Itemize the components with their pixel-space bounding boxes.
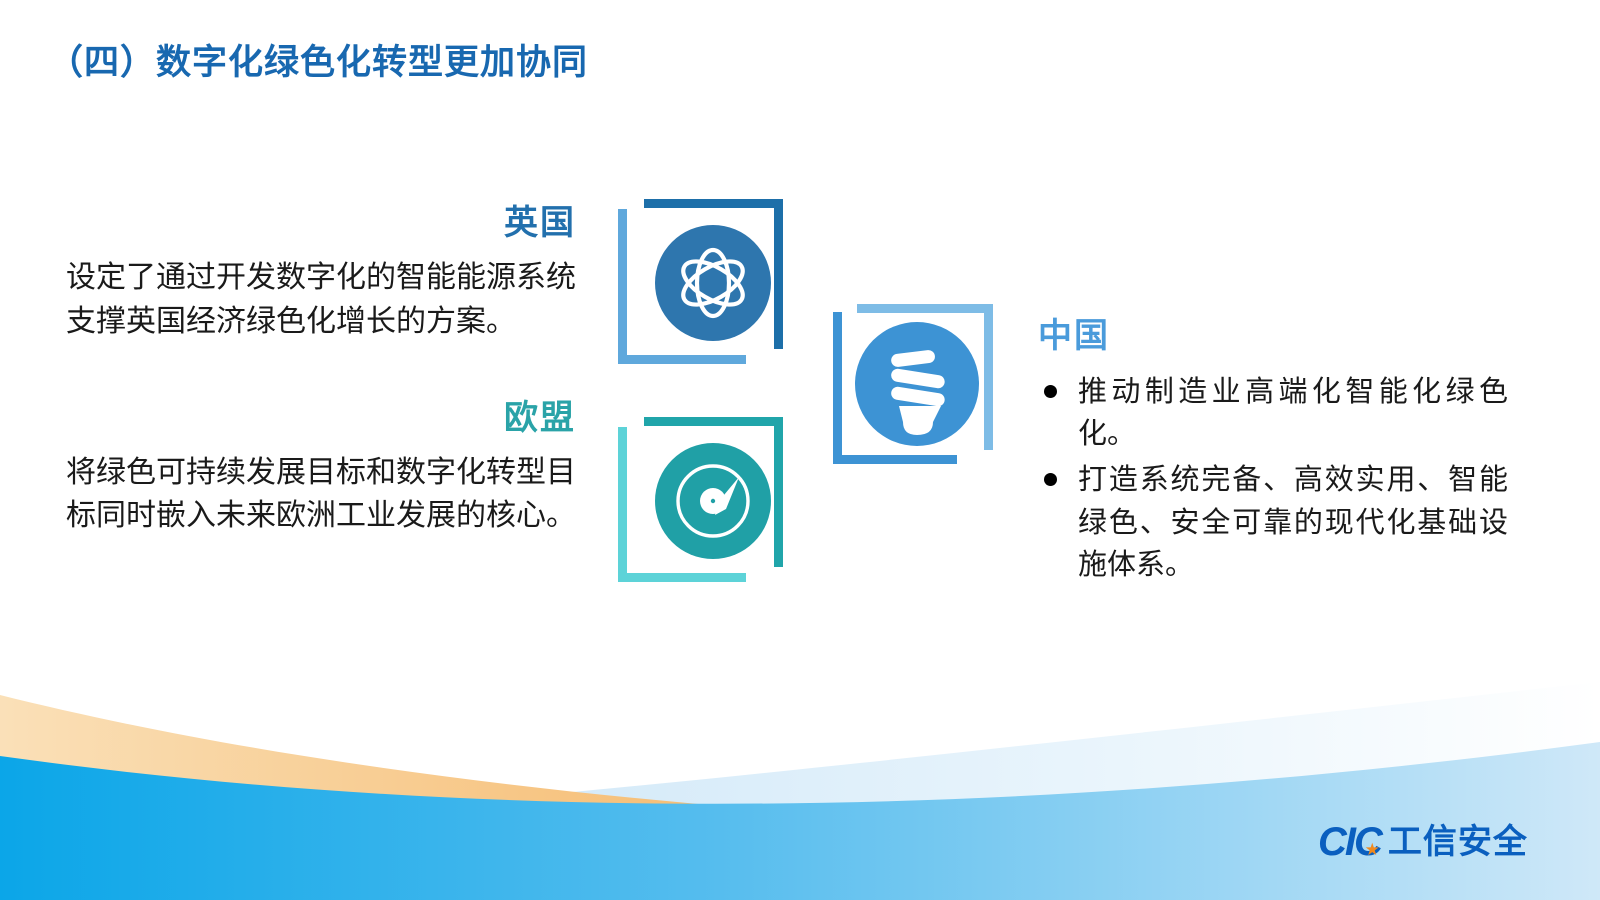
frame-bracket-bottom xyxy=(833,455,957,464)
frame-bracket-top xyxy=(644,199,783,208)
region-heading-eu: 欧盟 xyxy=(66,400,576,437)
brand-logo: CIC ★ 工信安全 xyxy=(1318,818,1528,866)
logo-mark: CIC ★ xyxy=(1318,822,1381,862)
frame-bracket-left xyxy=(618,209,627,364)
list-item: 打造系统完备、高效实用、智能绿色、安全可靠的现代化基础设施体系。 xyxy=(1038,459,1508,585)
region-heading-uk: 英国 xyxy=(66,205,576,242)
list-item: 推动制造业高端化智能化绿色化。 xyxy=(1038,371,1508,455)
star-icon: ★ xyxy=(1365,841,1378,858)
frame-bracket-right xyxy=(774,417,783,567)
wave-orange xyxy=(0,695,1600,900)
list-item-label: 打造系统完备、高效实用、智能绿色、安全可靠的现代化基础设施体系。 xyxy=(1078,464,1508,580)
left-text-column: 英国 设定了通过开发数字化的智能能源系统支撑英国经济绿色化增长的方案。 欧盟 将… xyxy=(66,205,576,538)
bullet-dot-icon xyxy=(1044,385,1057,398)
frame-bracket-right xyxy=(774,199,783,349)
frame-bracket-left xyxy=(833,312,842,464)
region-heading-cn: 中国 xyxy=(1038,318,1508,355)
list-item-label: 推动制造业高端化智能化绿色化。 xyxy=(1078,376,1508,450)
wave-pale xyxy=(0,682,1600,900)
frame-bracket-top xyxy=(644,417,783,426)
vinyl-record-icon xyxy=(655,443,771,559)
region-body-uk: 设定了通过开发数字化的智能能源系统支撑英国经济绿色化增长的方案。 xyxy=(66,256,576,342)
china-bullet-list: 推动制造业高端化智能化绿色化。 打造系统完备、高效实用、智能绿色、安全可靠的现代… xyxy=(1038,371,1508,585)
region-block-eu: 欧盟 将绿色可持续发展目标和数字化转型目标同时嵌入未来欧洲工业发展的核心。 xyxy=(66,400,576,538)
energy-saving-bulb-icon xyxy=(855,322,979,446)
page-title: （四）数字化绿色化转型更加协同 xyxy=(48,34,588,85)
slide-canvas: （四）数字化绿色化转型更加协同 英国 设定了通过开发数字化的智能能源系统支撑英国… xyxy=(0,0,1600,900)
logo-name: 工信安全 xyxy=(1388,825,1528,859)
frame-bracket-left xyxy=(618,427,627,582)
atom-icon xyxy=(655,225,771,341)
region-block-uk: 英国 设定了通过开发数字化的智能能源系统支撑英国经济绿色化增长的方案。 xyxy=(66,205,576,343)
bullet-dot-icon xyxy=(1044,473,1057,486)
frame-bracket-bottom xyxy=(618,355,746,364)
frame-bracket-right xyxy=(984,304,993,450)
region-body-eu: 将绿色可持续发展目标和数字化转型目标同时嵌入未来欧洲工业发展的核心。 xyxy=(66,451,576,537)
right-text-column: 中国 推动制造业高端化智能化绿色化。 打造系统完备、高效实用、智能绿色、安全可靠… xyxy=(1038,318,1508,590)
frame-bracket-top xyxy=(857,304,993,313)
frame-bracket-bottom xyxy=(618,573,746,582)
